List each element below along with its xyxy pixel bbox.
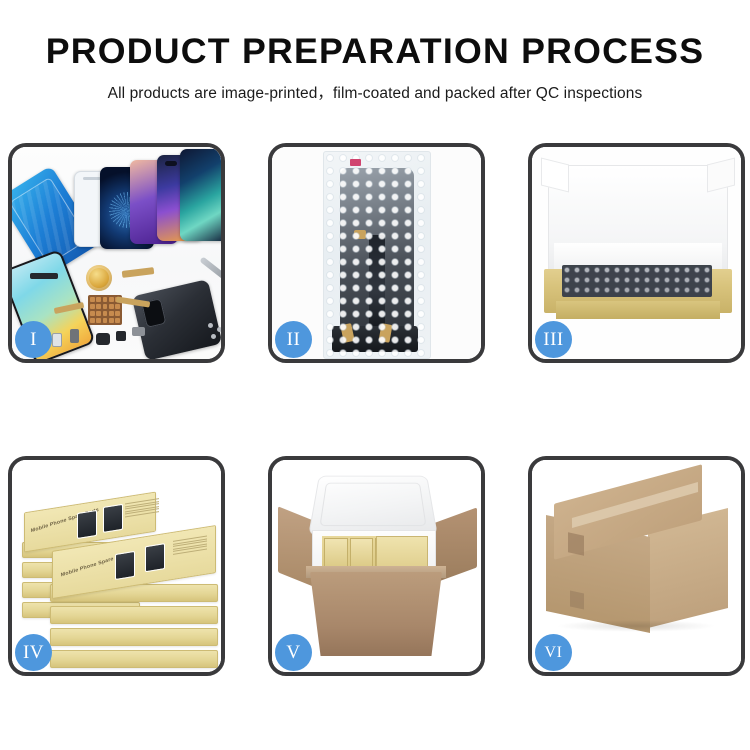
header: PRODUCT PREPARATION PROCESS All products…	[0, 0, 750, 103]
vibration-motor-icon	[96, 333, 110, 345]
step-badge-3: III	[535, 321, 572, 358]
lid-window-icon	[77, 510, 97, 539]
stacked-box	[50, 650, 218, 668]
step-badge-6: VI	[535, 634, 572, 671]
step-badge-4: IV	[15, 634, 52, 671]
steps-grid: I II	[8, 143, 745, 678]
earpiece-speaker-icon	[30, 273, 58, 279]
step-badge-5: V	[275, 634, 312, 671]
product-preparation-infographic: PRODUCT PREPARATION PROCESS All products…	[0, 0, 750, 750]
foam-lid-icon	[308, 476, 438, 536]
bubble-wrapped-contents-icon	[562, 265, 712, 297]
step-panel-2[interactable]: II	[268, 143, 485, 363]
wireless-charging-coil-icon	[86, 265, 112, 291]
battery-connector-icon	[52, 333, 62, 347]
step-panel-4[interactable]: Mobile Phone Spare Parts Mobile Phone Sp…	[8, 456, 225, 676]
step-panel-6[interactable]: VI	[528, 456, 745, 676]
page-title: PRODUCT PREPARATION PROCESS	[0, 34, 750, 71]
carton-body-icon	[310, 572, 442, 656]
carton-shadow	[556, 620, 716, 632]
ic-chip-icon	[116, 331, 126, 341]
step-panel-5[interactable]: V	[268, 456, 485, 676]
step-badge-2: II	[275, 321, 312, 358]
stacked-box	[50, 606, 218, 624]
bubble-wrap-bag-icon	[323, 151, 431, 359]
page-subtitle: All products are image-printed，film-coat…	[0, 81, 750, 103]
step-panel-3[interactable]: III	[528, 143, 745, 363]
lid-window-icon	[145, 543, 165, 572]
step-panel-1[interactable]: I	[8, 143, 225, 363]
lid-window-icon	[115, 551, 135, 580]
bubble-texture	[324, 152, 430, 358]
teal-phone-screen-icon	[180, 149, 221, 241]
carton-tab-icon	[570, 591, 584, 610]
lid-window-icon	[103, 504, 123, 533]
step-badge-1: I	[15, 321, 52, 358]
carton-tab-icon	[568, 532, 584, 555]
connector-icon	[132, 327, 145, 336]
sim-tray-icon	[70, 329, 79, 343]
kraft-tray-front-icon	[556, 301, 720, 319]
stacked-box	[50, 628, 218, 646]
pink-qc-label-icon	[350, 159, 361, 166]
screws-icon	[208, 323, 221, 341]
